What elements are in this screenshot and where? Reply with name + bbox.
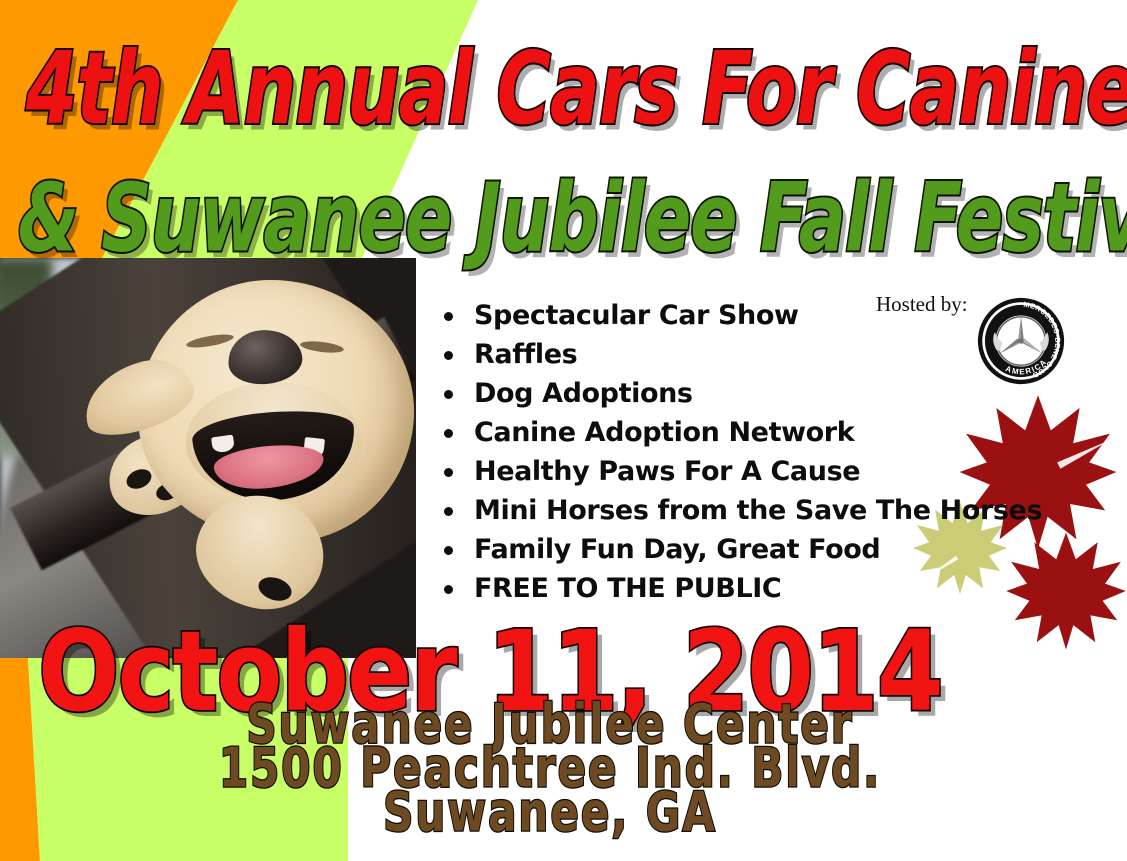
list-item: FREE TO THE PUBLIC	[474, 569, 1127, 608]
headline-secondary: & Suwanee Jubilee Fall Festival 9-4	[18, 171, 1127, 266]
list-item: Mini Horses from the Save The Horses	[474, 491, 1127, 530]
headline-primary: 4th Annual Cars For Canines! 11-4	[26, 39, 1127, 139]
venue-address: Suwanee Jubilee Center 1500 Peachtree In…	[0, 706, 1100, 838]
puppy-photo-scene	[0, 258, 416, 658]
hosted-by-label: Hosted by:	[876, 292, 968, 317]
mercedes-benz-club-of-america-logo-icon: MERCEDES-BENZ CLUB AMERICA	[977, 297, 1065, 385]
puppy-photo	[0, 258, 416, 658]
list-item: Healthy Paws For A Cause	[474, 452, 1127, 491]
event-flyer: 4th Annual Cars For Canines! 11-4 & Suwa…	[0, 0, 1127, 861]
list-item: Family Fun Day, Great Food	[474, 530, 1127, 569]
venue-city-state: Suwanee, GA	[0, 789, 1100, 835]
list-item: Canine Adoption Network	[474, 413, 1127, 452]
